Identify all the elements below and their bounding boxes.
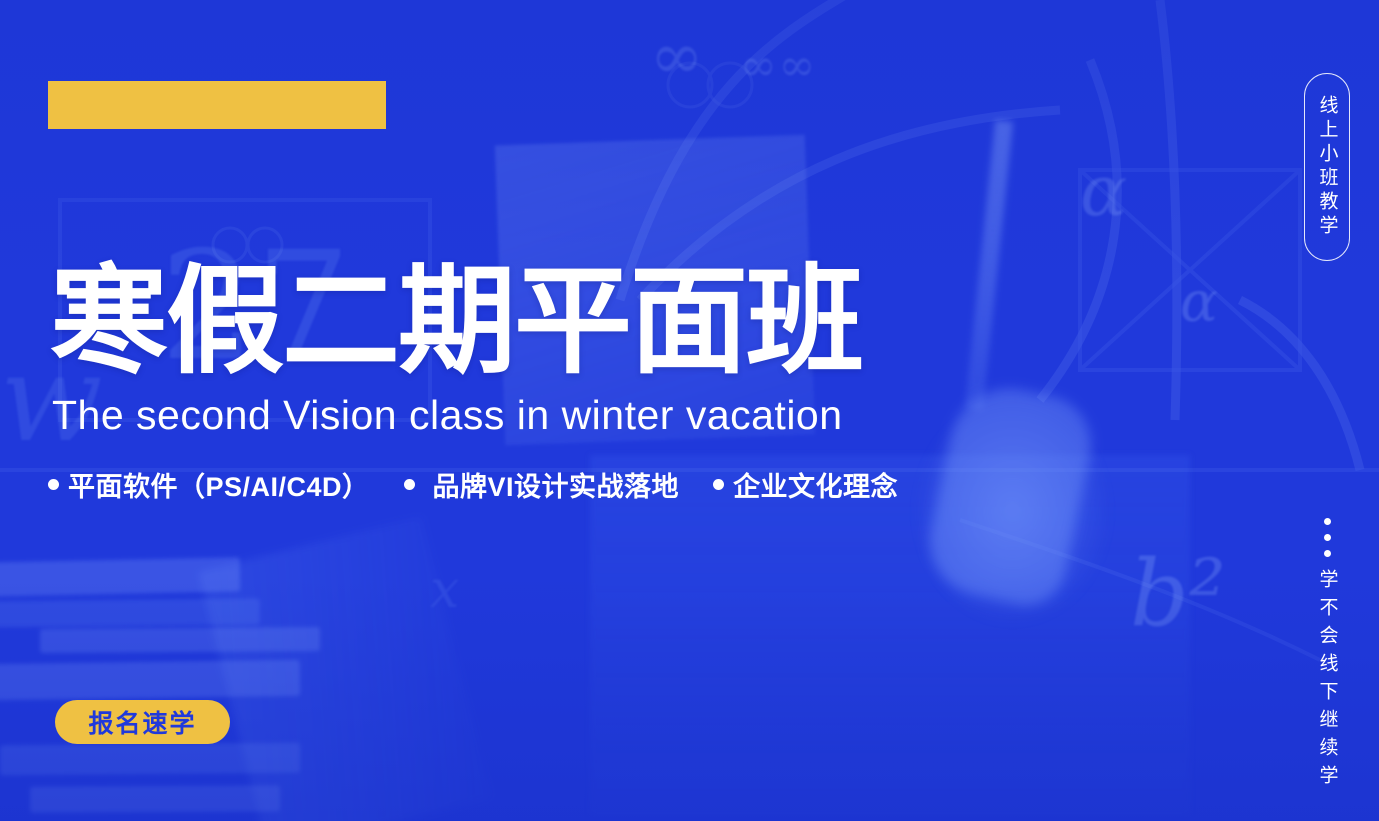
list-item: 企业文化理念: [713, 465, 898, 504]
list-item: 平面软件（PS/AI/C4D）: [48, 465, 370, 504]
bullet-dot-icon: [713, 479, 724, 490]
poster-content: 寒假二期平面班 The second Vision class in winte…: [0, 0, 1379, 821]
bullet-dot-icon: [48, 479, 59, 490]
page-subtitle: The second Vision class in winter vacati…: [52, 393, 843, 438]
poster-canvas: ∞ 27 α b² w α ∞∞ x 寒假二期平面班 The second Vi…: [0, 0, 1379, 821]
enroll-button-label: 报名速学: [88, 704, 196, 740]
guarantee-tagline: 学不会线下继续学: [1304, 518, 1350, 793]
list-item: 品牌VI设计实战落地: [404, 465, 680, 504]
accent-bar: [48, 81, 386, 129]
online-class-badge: 线上小班教学: [1304, 73, 1350, 261]
enroll-button[interactable]: 报名速学: [55, 700, 230, 744]
page-title: 寒假二期平面班: [50, 263, 862, 381]
list-item-label: 企业文化理念: [733, 465, 898, 504]
three-dots-icon: [1324, 518, 1331, 557]
list-item-label: 平面软件（PS/AI/C4D）: [68, 465, 370, 504]
guarantee-tagline-label: 学不会线下继续学: [1314, 569, 1341, 793]
bullet-dot-icon: [404, 479, 415, 490]
online-class-badge-label: 线上小班教学: [1314, 95, 1341, 239]
list-item-label: 品牌VI设计实战落地: [433, 465, 680, 504]
feature-bullet-list: 平面软件（PS/AI/C4D） 品牌VI设计实战落地 企业文化理念: [48, 465, 898, 504]
